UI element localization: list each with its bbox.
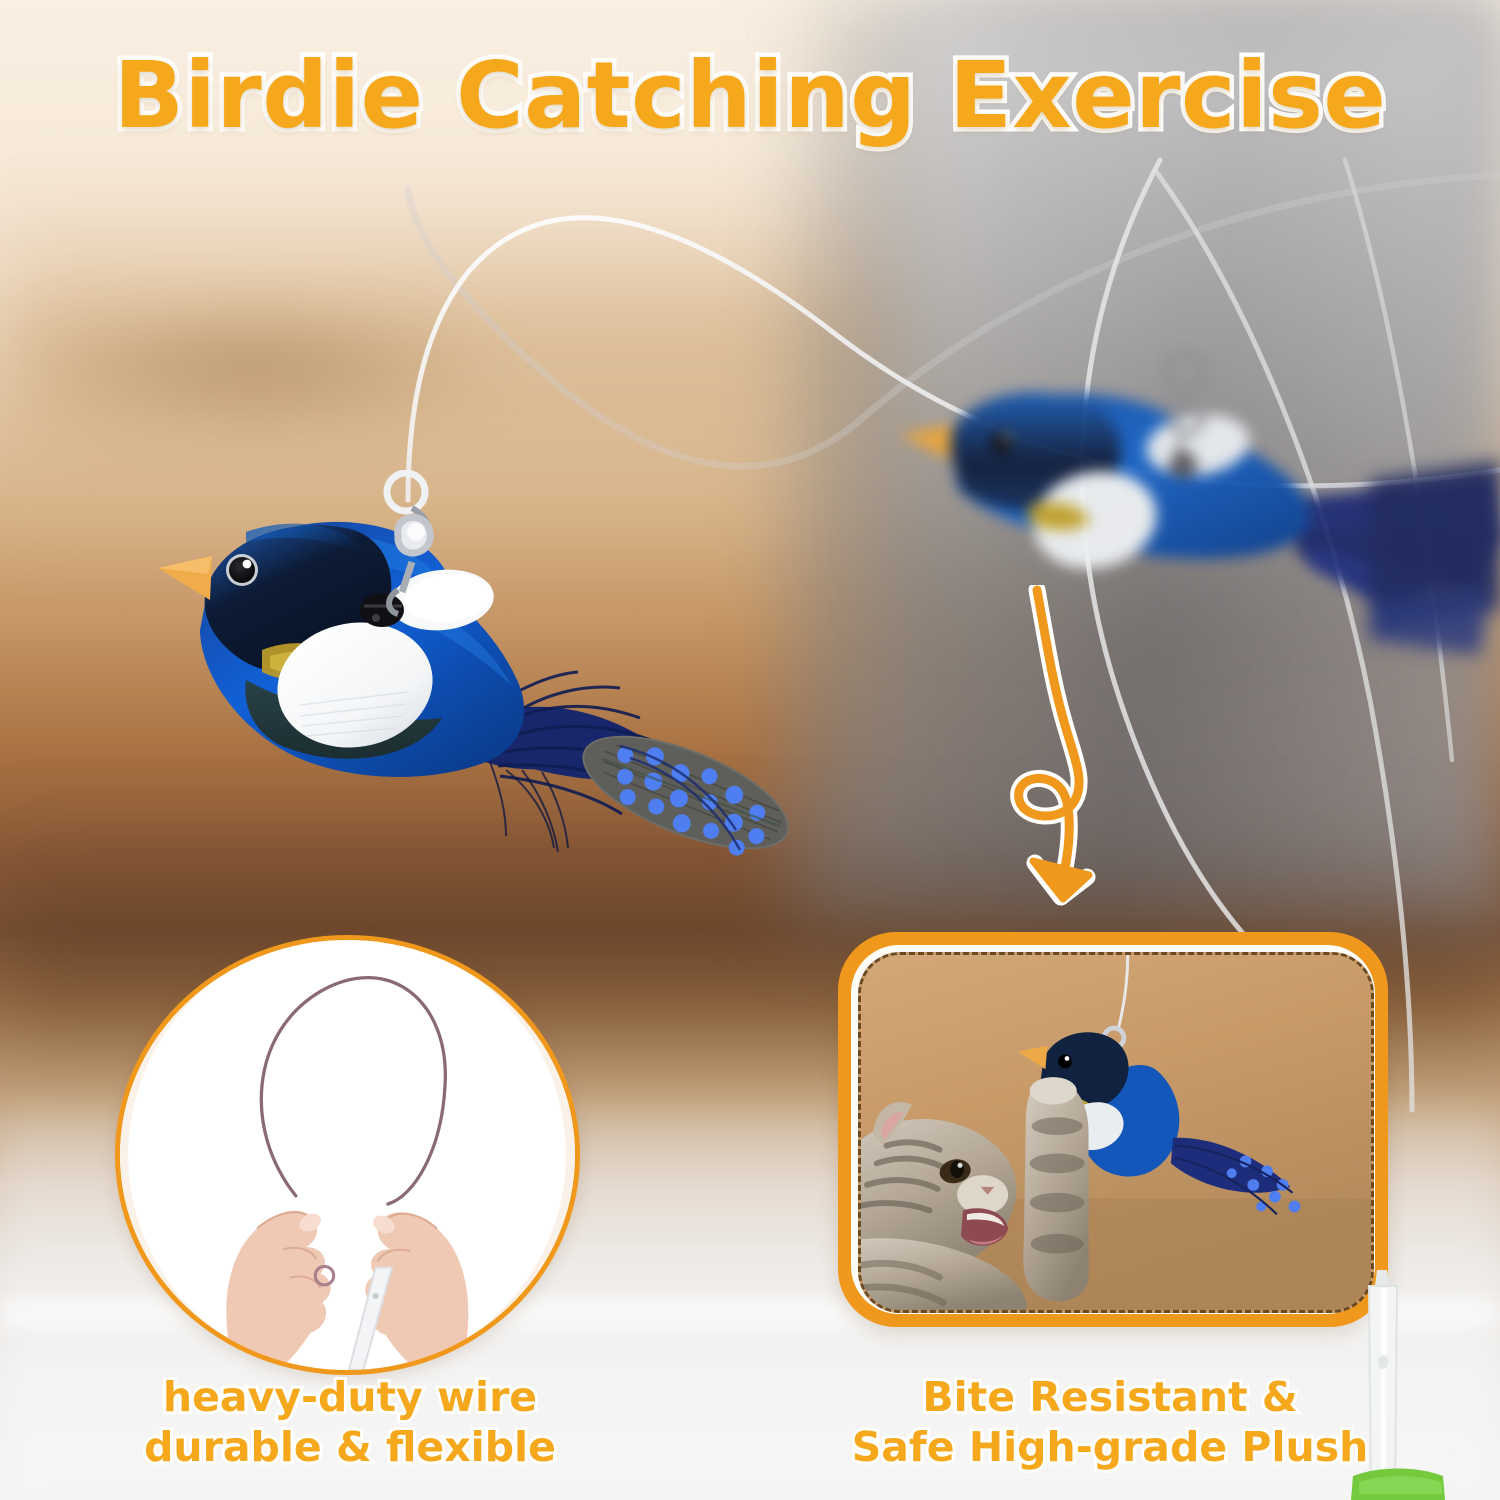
- kitten-paw: [1023, 1077, 1088, 1301]
- main-bird-toy: [150, 470, 790, 990]
- inset-dashed-frame: [858, 952, 1374, 1313]
- background-shelf-blur: [0, 300, 510, 435]
- background-feather-blur: [1370, 450, 1500, 800]
- caption-heavy-duty-wire: heavy-duty wire durable & flexible: [60, 1372, 640, 1472]
- feather-tail: [478, 672, 790, 873]
- bell: [360, 593, 404, 627]
- caption-bite-resistant: Bite Resistant & Safe High-grade Plush: [800, 1372, 1420, 1472]
- hands-bending-wire-photo: [120, 940, 575, 1370]
- page-title: Birdie Catching Exercise: [0, 42, 1500, 149]
- product-marketing-image: Birdie Catching Exercise heavy-duty wire…: [0, 0, 1500, 1500]
- kitten-playing-photo: [861, 955, 1371, 1310]
- curly-arrow-icon: [975, 585, 1145, 935]
- inset-white-band: [851, 945, 1375, 1314]
- inset-kitten-demo[interactable]: [838, 932, 1388, 1327]
- inset-wire-demo[interactable]: [115, 935, 580, 1375]
